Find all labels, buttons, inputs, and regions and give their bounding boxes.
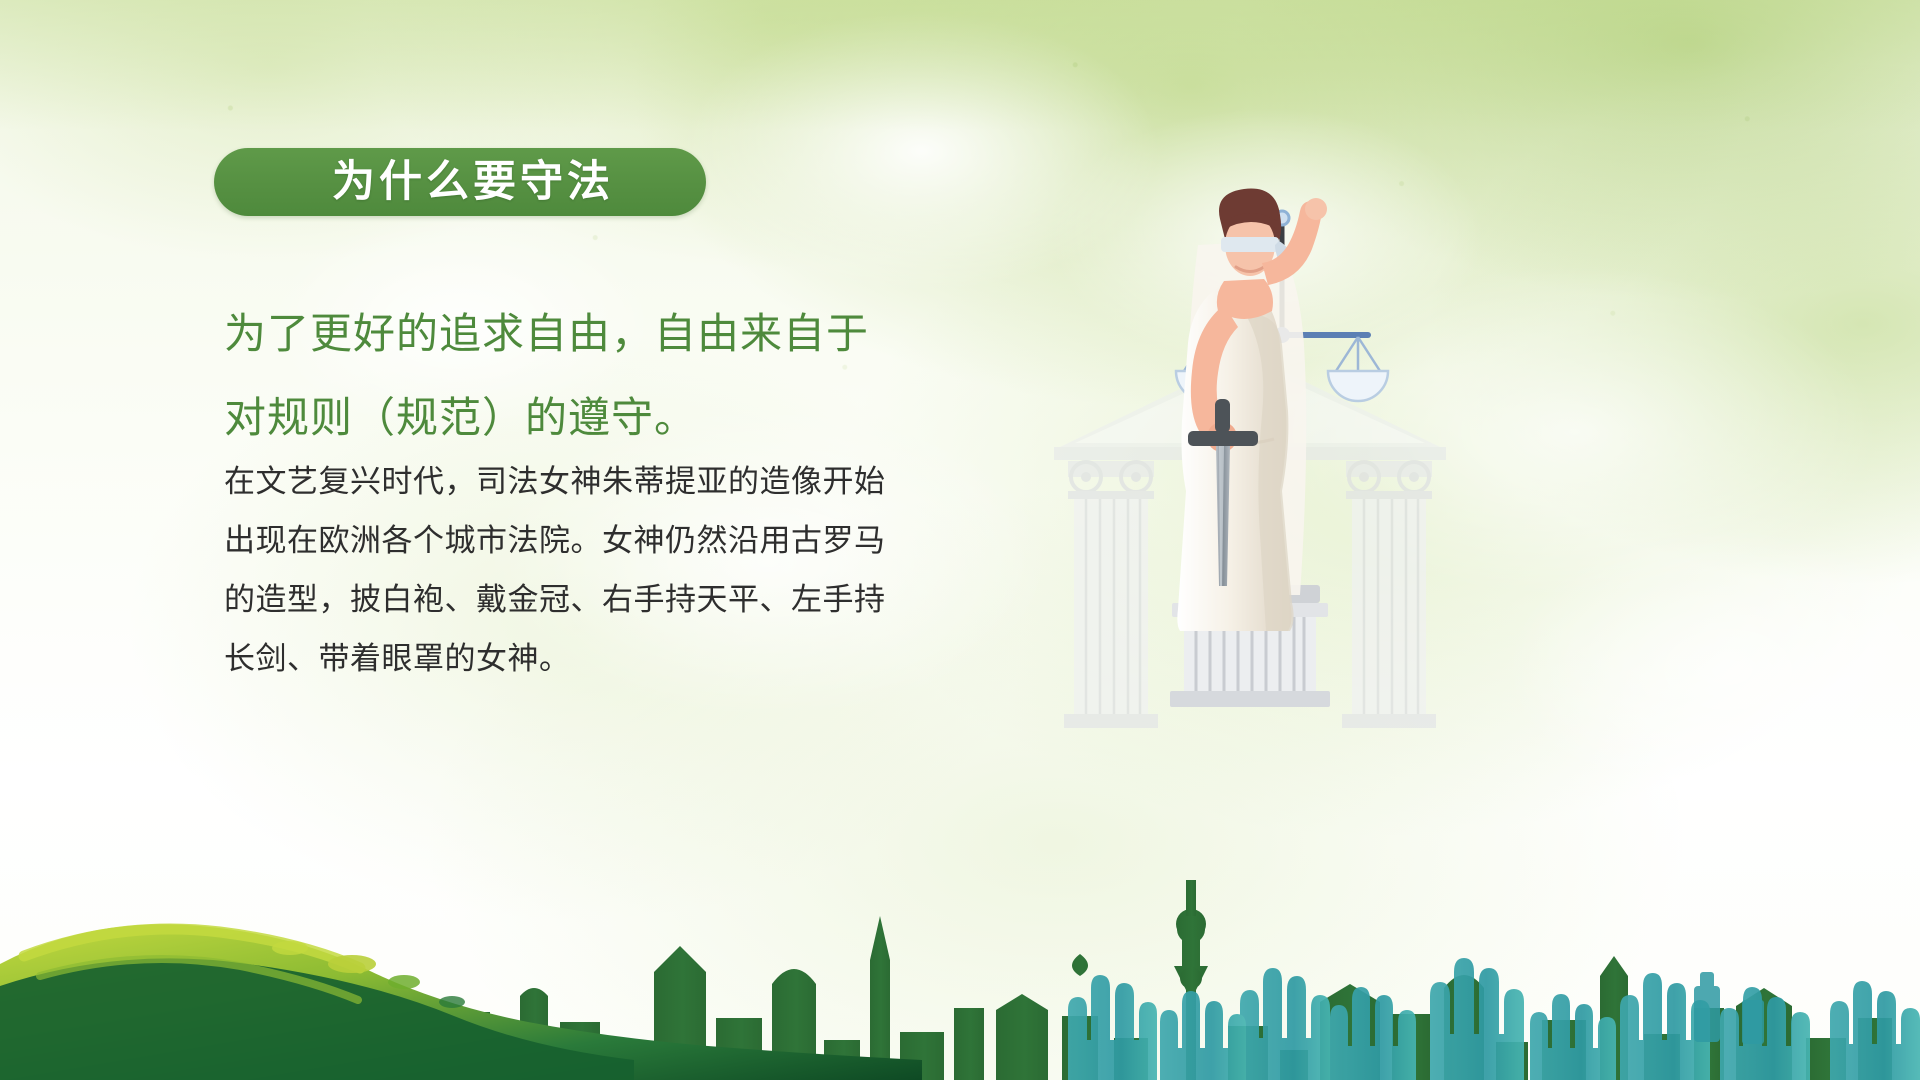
body-line: 出现在欧洲各个城市法院。女神仍然沿用古罗马 bbox=[224, 511, 944, 570]
bottom-artwork bbox=[0, 750, 1920, 1080]
blindfold-icon bbox=[1221, 237, 1279, 252]
greek-column-left-icon bbox=[1064, 461, 1158, 728]
greek-column-right-icon bbox=[1342, 461, 1436, 728]
lead-paragraph: 为了更好的追求自由，自由来自于 对规则（规范）的遵守。 bbox=[224, 292, 984, 460]
section-title-pill: 为什么要守法 bbox=[214, 148, 706, 216]
body-paragraph: 在文艺复兴时代，司法女神朱蒂提亚的造像开始 出现在欧洲各个城市法院。女神仍然沿用… bbox=[224, 452, 944, 688]
page-title: 为什么要守法 bbox=[306, 161, 614, 204]
body-line: 的造型，披白袍、戴金冠、右手持天平、左手持 bbox=[224, 570, 944, 629]
body-line: 长剑、带着眼罩的女神。 bbox=[224, 629, 944, 688]
white-robe bbox=[1177, 285, 1293, 631]
lead-line: 为了更好的追求自由，自由来自于 bbox=[224, 292, 984, 376]
slide-canvas: 为什么要守法 为了更好的追求自由，自由来自于 对规则（规范）的遵守。 在文艺复兴… bbox=[0, 0, 1920, 1080]
body-line: 在文艺复兴时代，司法女神朱蒂提亚的造像开始 bbox=[224, 452, 944, 511]
lead-line: 对规则（规范）的遵守。 bbox=[224, 376, 984, 460]
